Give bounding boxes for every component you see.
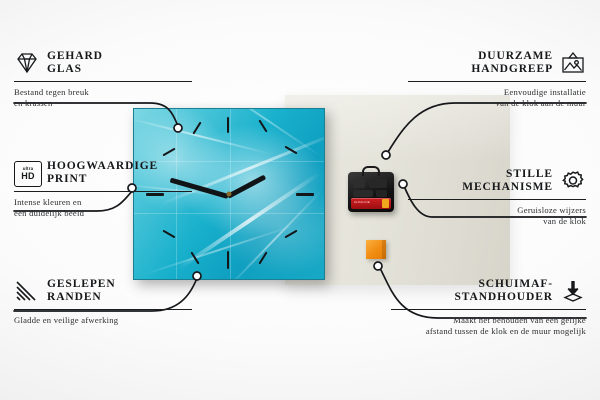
diamond-icon bbox=[14, 51, 40, 75]
feature-stille-mechanisme: STILLE MECHANISME Geruisloze wijzers van… bbox=[408, 168, 586, 227]
feature-divider bbox=[391, 309, 586, 310]
feature-duurzame-handgreep: DUURZAME HANDGREEP Eenvoudige installati… bbox=[408, 50, 586, 109]
press-down-icon bbox=[560, 279, 586, 303]
feature-title-line2: PRINT bbox=[47, 173, 87, 185]
feature-desc-line1: Geruisloze wijzers bbox=[517, 205, 586, 215]
feature-gehard-glas: GEHARD GLAS Bestand tegen breuk en krass… bbox=[14, 50, 192, 109]
clock-marker-3 bbox=[296, 193, 314, 196]
feature-desc-line1: Eenvoudige installatie bbox=[504, 87, 586, 97]
feature-title-line1: DUURZAME bbox=[478, 50, 553, 62]
foam-spacer bbox=[366, 240, 386, 259]
picture-frame-icon bbox=[560, 51, 586, 75]
feature-desc-line2: en krassen bbox=[14, 98, 53, 108]
feature-schuimaf-standhouder: SCHUIMAF- STANDHOUDER Maakt het behouden… bbox=[391, 278, 586, 337]
feature-divider bbox=[408, 81, 586, 82]
clock-marker-6 bbox=[227, 251, 229, 269]
feature-divider bbox=[14, 191, 192, 192]
mechanism-detail bbox=[353, 190, 373, 197]
clock-mechanism: ALKALINE bbox=[348, 172, 394, 212]
mechanism-detail bbox=[376, 190, 387, 197]
feature-title-line1: GESLEPEN bbox=[47, 278, 116, 290]
aa-battery: ALKALINE bbox=[351, 198, 391, 209]
battery-label: ALKALINE bbox=[354, 200, 370, 204]
feature-title-line2: STANDHOUDER bbox=[454, 291, 553, 303]
beveled-edges-icon bbox=[14, 279, 40, 303]
feature-title-line1: STILLE bbox=[506, 168, 553, 180]
battery-plus-terminal bbox=[382, 199, 389, 208]
feature-title-line1: GEHARD bbox=[47, 50, 103, 62]
feature-desc-line2: een duidelijk beeld bbox=[14, 208, 84, 218]
feature-divider bbox=[408, 199, 586, 200]
clock-center-pin bbox=[227, 192, 232, 197]
feature-desc-line1: Gladde en veilige afwerking bbox=[14, 315, 118, 325]
mechanism-detail bbox=[353, 179, 365, 188]
feature-desc-line1: Bestand tegen breuk bbox=[14, 87, 89, 97]
feature-desc-line2: van de klok aan de muur bbox=[496, 98, 586, 108]
mechanism-hanger-icon bbox=[362, 166, 380, 176]
ultra-hd-icon: ultra HD bbox=[14, 161, 40, 185]
feature-desc-line2: van de klok bbox=[543, 216, 586, 226]
feature-geslepen-randen: GESLEPEN RANDEN Gladde en veilige afwerk… bbox=[14, 278, 192, 326]
ultra-hd-icon-bottom: HD bbox=[21, 172, 34, 181]
mechanism-detail bbox=[369, 179, 387, 188]
feature-desc-line1: Intense kleuren en bbox=[14, 197, 82, 207]
feature-title-line2: MECHANISME bbox=[462, 181, 553, 193]
feature-title-line2: RANDEN bbox=[47, 291, 102, 303]
feature-hoogwaardige-print: ultra HD HOOGWAARDIGE PRINT Intense kleu… bbox=[14, 160, 192, 219]
feature-title-line1: HOOGWAARDIGE bbox=[47, 160, 158, 172]
feature-desc-line1: Maakt het behouden van een gelijke bbox=[453, 315, 586, 325]
feature-title-line2: GLAS bbox=[47, 63, 82, 75]
feature-title-line1: SCHUIMAF- bbox=[478, 278, 553, 290]
clock-marker-12 bbox=[227, 117, 229, 133]
feature-divider bbox=[14, 81, 192, 82]
infographic-canvas: ALKALINE bbox=[0, 0, 600, 400]
gear-icon bbox=[560, 169, 586, 193]
feature-title-line2: HANDGREEP bbox=[471, 63, 553, 75]
feature-desc-line2: afstand tussen de klok en de muur mogeli… bbox=[426, 326, 586, 336]
feature-divider bbox=[14, 309, 192, 310]
